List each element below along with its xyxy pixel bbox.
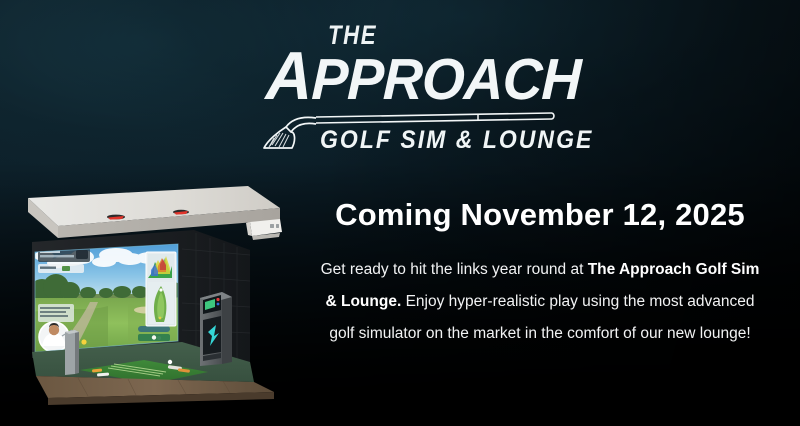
brand-logo: THE APPROACH [256, 18, 556, 156]
logo-tagline: GOLF SIM & LOUNGE [320, 126, 593, 155]
logo-line-approach: APPROACH [265, 42, 582, 110]
page-title: Coming November 12, 2025 [300, 198, 780, 232]
projector [246, 219, 282, 240]
announcement-paragraph: Get ready to hit the links year round at… [300, 254, 780, 349]
course-map-panel [146, 252, 176, 326]
announcement-copy: Coming November 12, 2025 Get ready to hi… [300, 198, 780, 349]
promo-banner: THE APPROACH [0, 0, 800, 426]
golf-simulator-bay-render [18, 186, 286, 408]
kiosk-terminal [200, 292, 232, 366]
ceiling-canopy [28, 186, 280, 238]
